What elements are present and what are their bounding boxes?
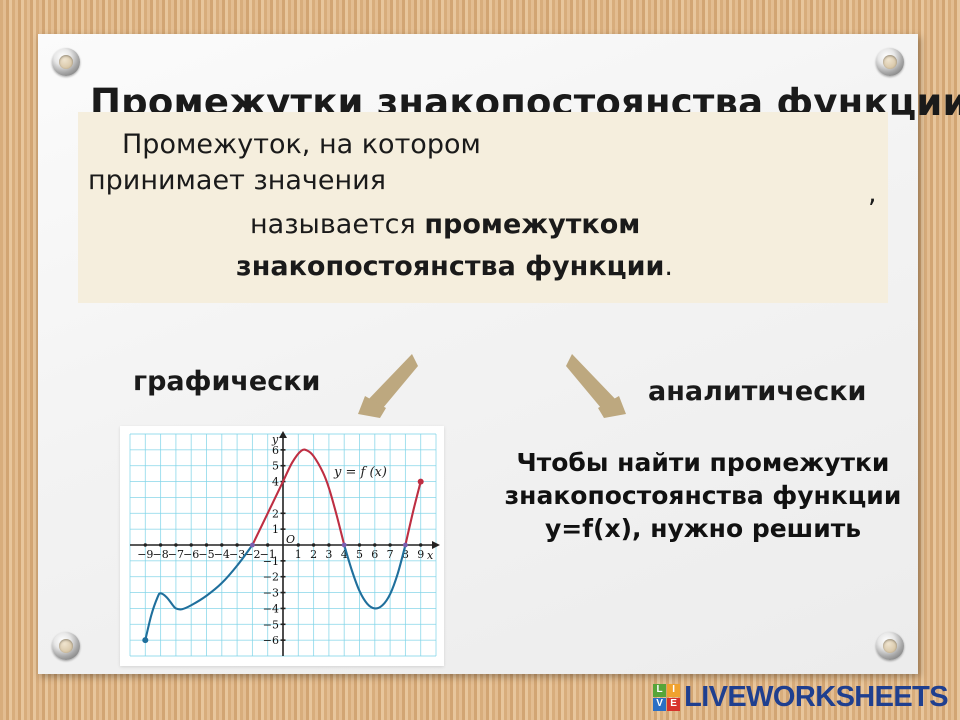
svg-text:2: 2 (310, 548, 317, 561)
svg-text:6: 6 (371, 548, 378, 561)
svg-text:x: x (427, 549, 434, 562)
logo-square-l: L (653, 684, 666, 697)
analytical-line-3: y=f(x), нужно решить (478, 512, 928, 545)
definition-line-3-bold: промежутком (424, 209, 640, 240)
svg-text:9: 9 (417, 548, 424, 561)
svg-text:O: O (286, 533, 295, 546)
branch-label-graphical: графически (133, 366, 320, 397)
svg-text:y: y (271, 433, 279, 446)
svg-text:−6: −6 (183, 548, 199, 561)
svg-text:−6: −6 (263, 634, 279, 647)
slide-board: Промежутки знакопостоянства функции Пром… (38, 34, 918, 674)
definition-line-4: знакопостоянства функции. (236, 252, 673, 282)
definition-line-2: принимает значения (88, 166, 386, 196)
svg-text:−8: −8 (152, 548, 168, 561)
arrow-down-right-icon (566, 352, 628, 422)
function-graph-card: −9−8−7−6−5−4−3−2−112345678965421−1−2−3−4… (120, 426, 444, 666)
logo-square-e: E (667, 698, 680, 711)
analytical-line-2: знакопостоянства функции (478, 479, 928, 512)
svg-text:5: 5 (356, 548, 363, 561)
definition-line-1: Промежуток, на котором (122, 130, 481, 160)
definition-period: . (664, 251, 673, 282)
definition-trailing-comma: , (868, 178, 877, 209)
svg-text:3: 3 (325, 548, 332, 561)
svg-text:−7: −7 (168, 548, 184, 561)
rivet-top-right (876, 48, 904, 76)
svg-text:−5: −5 (198, 548, 214, 561)
definition-line-3-plain: называется (250, 209, 424, 240)
liveworksheets-logo[interactable]: LIVE LIVEWORKSHEETS (653, 680, 948, 714)
rivet-top-left (52, 48, 80, 76)
logo-square-v: V (653, 698, 666, 711)
svg-text:−5: −5 (263, 618, 279, 631)
svg-text:1: 1 (272, 523, 279, 536)
svg-text:1: 1 (295, 548, 302, 561)
svg-text:−4: −4 (263, 602, 279, 615)
svg-text:−9: −9 (137, 548, 153, 561)
definition-box: Промежуток, на котором принимает значени… (78, 112, 888, 303)
analytical-paragraph: Чтобы найти промежутки знакопостоянства … (478, 446, 928, 545)
graph-curve-label: y = f (x) (333, 465, 387, 480)
svg-text:−1: −1 (263, 555, 279, 568)
svg-text:4: 4 (272, 476, 279, 489)
analytical-line-1: Чтобы найти промежутки (478, 446, 928, 479)
svg-text:−3: −3 (263, 587, 279, 600)
liveworksheets-wordmark: LIVEWORKSHEETS (684, 681, 948, 714)
definition-line-3: называется промежутком (250, 210, 640, 240)
svg-text:7: 7 (387, 548, 394, 561)
svg-text:−2: −2 (263, 571, 279, 584)
svg-text:5: 5 (272, 460, 279, 473)
branch-label-analytical: аналитически (648, 376, 866, 407)
svg-text:2: 2 (272, 507, 279, 520)
logo-square-i: I (667, 684, 680, 697)
liveworksheets-logo-squares: LIVE (653, 684, 680, 711)
rivet-bottom-left (52, 632, 80, 660)
arrow-down-left-icon (356, 352, 418, 422)
svg-text:−4: −4 (214, 548, 230, 561)
definition-line-4-bold: знакопостоянства функции (236, 251, 664, 282)
rivet-bottom-right (876, 632, 904, 660)
function-graph: −9−8−7−6−5−4−3−2−112345678965421−1−2−3−4… (120, 426, 444, 666)
